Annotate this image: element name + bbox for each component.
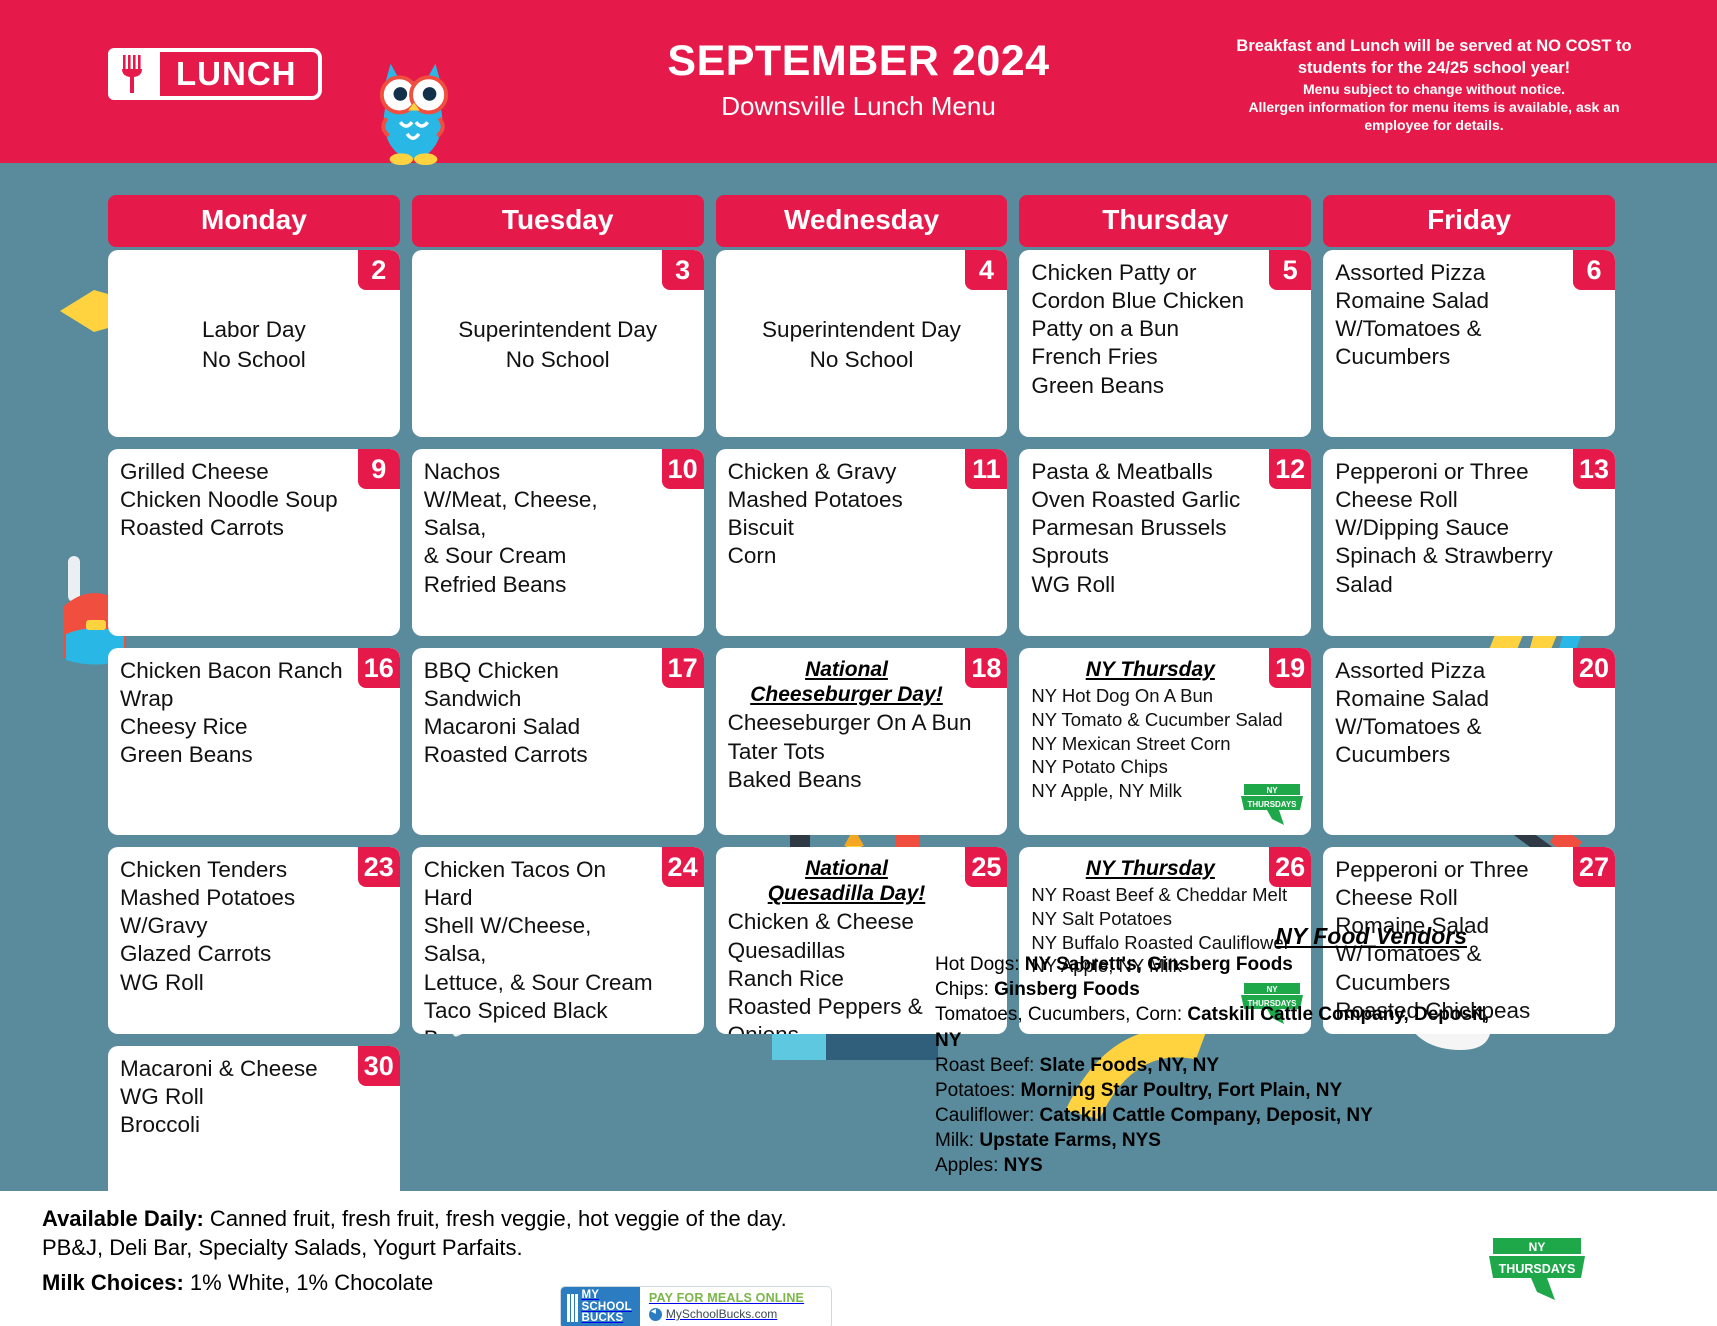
menu-item: Superintendent Day (762, 315, 961, 345)
cell-items: Chicken TendersMashed PotatoesW/GravyGla… (120, 856, 388, 997)
notice-line-1: Breakfast and Lunch will be served at NO… (1189, 36, 1679, 58)
calendar-day-cell[interactable]: 24Chicken Tacos On HardShell W/Cheese, S… (412, 847, 704, 1034)
cell-items: Macaroni & CheeseWG RollBroccoli (120, 1055, 388, 1139)
menu-item: Chicken Patty or (1031, 259, 1265, 287)
vendor-line: Hot Dogs: NY Sabrett's, Ginsberg Foods (935, 952, 1495, 977)
vendor-label: Potatoes: (935, 1080, 1015, 1101)
svg-text:NY: NY (1267, 786, 1279, 795)
menu-item: W/Gravy (120, 912, 354, 940)
cell-items: Superintendent DayNo School (728, 259, 996, 431)
menu-item: Romaine Salad (1335, 685, 1569, 713)
vendor-value: Upstate Farms, NYS (974, 1130, 1161, 1151)
header-notice: Breakfast and Lunch will be served at NO… (1189, 36, 1679, 135)
date-badge: 30 (358, 1046, 400, 1086)
calendar-day-cell[interactable]: 23Chicken TendersMashed PotatoesW/GravyG… (108, 847, 400, 1034)
vendor-line: Potatoes: Morning Star Poultry, Fort Pla… (935, 1078, 1495, 1103)
menu-item: W/Meat, Cheese, Salsa, (424, 486, 658, 542)
cell-items: Pepperoni or ThreeCheese RollW/Dipping S… (1335, 458, 1603, 599)
menu-item: Roasted Carrots (120, 514, 354, 542)
notice-line-2: students for the 24/25 school year! (1189, 58, 1679, 80)
date-badge: 12 (1269, 449, 1311, 489)
menu-item: Cucumbers (1335, 343, 1569, 371)
date-badge: 18 (965, 648, 1007, 688)
vendor-line: Apples: NYS (935, 1153, 1495, 1178)
calendar-day-cell[interactable]: 20Assorted PizzaRomaine SaladW/Tomatoes … (1323, 648, 1615, 835)
menu-item: WG Roll (120, 969, 354, 997)
calendar-day-cell[interactable]: 3Superintendent DayNo School (412, 250, 704, 437)
menu-item: Romaine Salad (1335, 287, 1569, 315)
vendor-line: Milk: Upstate Farms, NYS (935, 1128, 1495, 1153)
menu-item: Green Beans (120, 741, 354, 769)
menu-page: LUNCH SEPTEMBER 2024 Downsville Lunch Me… (0, 0, 1717, 1326)
vendor-label: Cauliflower: (935, 1105, 1034, 1126)
menu-item: Nachos (424, 458, 658, 486)
calendar-day-cell[interactable]: 4Superintendent DayNo School (716, 250, 1008, 437)
myschoolbucks-cta: PAY FOR MEALS ONLINE MySchoolBucks.com (640, 1287, 831, 1326)
cell-items: Labor DayNo School (120, 259, 388, 431)
menu-item: Sprouts (1031, 542, 1265, 570)
menu-item: Cheese Roll (1335, 884, 1569, 912)
date-badge: 13 (1573, 449, 1615, 489)
menu-item: Mashed Potatoes (728, 486, 962, 514)
menu-item: Pepperoni or Three (1335, 458, 1569, 486)
menu-item: NY Potato Chips (1031, 755, 1299, 779)
menu-item: Macaroni & Cheese (120, 1055, 354, 1083)
menu-item: Baked Beans (728, 766, 996, 794)
ny-thursdays-badge-icon: NYTHURSDAYS (1239, 781, 1305, 829)
available-daily-label: Available Daily: (42, 1206, 204, 1231)
svg-text:THURSDAYS: THURSDAYS (1499, 1262, 1576, 1276)
lunch-logo-label: LUNCH (160, 48, 322, 100)
menu-item: Chicken Noodle Soup (120, 486, 354, 514)
date-badge: 11 (965, 449, 1007, 489)
vendor-label: Roast Beef: (935, 1055, 1034, 1076)
menu-item: Lettuce, & Sour Cream (424, 969, 658, 997)
calendar-day-cell[interactable]: 17BBQ Chicken SandwichMacaroni SaladRoas… (412, 648, 704, 835)
date-badge: 9 (358, 449, 400, 489)
myschoolbucks-wordmark: MY SCHOOL BUCKS (582, 1290, 632, 1325)
vendor-value: Catskill Cattle Company, Deposit, NY (1034, 1105, 1373, 1126)
menu-item: Macaroni Salad (424, 713, 658, 741)
date-badge: 19 (1269, 648, 1311, 688)
menu-item: Beans (424, 1025, 658, 1034)
date-badge: 24 (662, 847, 704, 887)
menu-item: & Sour Cream (424, 542, 658, 570)
menu-item: Wrap (120, 685, 354, 713)
cell-banner-line: NY Thursday (1031, 856, 1269, 881)
menu-item: Cheese Roll (1335, 486, 1569, 514)
myschoolbucks-badge[interactable]: MY SCHOOL BUCKS PAY FOR MEALS ONLINE MyS… (560, 1286, 832, 1326)
vendor-value: Slate Foods, NY, NY (1034, 1055, 1219, 1076)
menu-item: NY Tomato & Cucumber Salad (1031, 708, 1299, 732)
ny-food-vendors-block: NY Food Vendors Hot Dogs: NY Sabrett's, … (935, 923, 1495, 1178)
calendar-day-cell[interactable]: 2Labor DayNo School (108, 250, 400, 437)
date-badge: 26 (1269, 847, 1311, 887)
vendor-line: Roast Beef: Slate Foods, NY, NY (935, 1053, 1495, 1078)
calendar-day-cell[interactable]: 12Pasta & MeatballsOven Roasted GarlicPa… (1019, 449, 1311, 636)
menu-item: NY Hot Dog On A Bun (1031, 684, 1299, 708)
vendor-label: Milk: (935, 1130, 974, 1151)
msb-line-3: BUCKS (582, 1313, 632, 1325)
weekday-friday: Friday (1323, 195, 1615, 247)
date-badge: 3 (662, 250, 704, 290)
cell-items: Cheeseburger On A BunTater TotsBaked Bea… (728, 709, 996, 793)
myschoolbucks-url: MySchoolBucks.com (666, 1307, 777, 1321)
menu-item: No School (202, 345, 306, 375)
notice-line-5: employee for details. (1189, 116, 1679, 134)
menu-item: Tater Tots (728, 738, 996, 766)
msb-line-1: MY (582, 1290, 632, 1302)
myschoolbucks-pay-label: PAY FOR MEALS ONLINE (649, 1291, 831, 1305)
cell-items: BBQ Chicken SandwichMacaroni SaladRoaste… (424, 657, 692, 770)
weekday-monday: Monday (108, 195, 400, 247)
menu-item: W/Tomatoes & (1335, 315, 1569, 343)
vendor-value: Morning Star Poultry, Fort Plain, NY (1015, 1080, 1342, 1101)
menu-item: Roasted Carrots (424, 741, 658, 769)
lunch-logo: LUNCH (108, 48, 322, 100)
menu-item: NY Roast Beef & Cheddar Melt (1031, 883, 1299, 907)
ny-thursdays-footer-badge-icon: NY THURSDAYS (1485, 1232, 1589, 1308)
menu-item: W/Dipping Sauce (1335, 514, 1569, 542)
menu-item: Labor Day (202, 315, 306, 345)
menu-item: WG Roll (1031, 571, 1265, 599)
menu-item: Spinach & Strawberry (1335, 542, 1569, 570)
vendor-line: Chips: Ginsberg Foods (935, 977, 1495, 1002)
date-badge: 17 (662, 648, 704, 688)
vendor-label: Tomatoes, Cucumbers, Corn: (935, 1004, 1182, 1025)
weekday-tuesday: Tuesday (412, 195, 704, 247)
vendors-list: Hot Dogs: NY Sabrett's, Ginsberg FoodsCh… (935, 952, 1495, 1178)
menu-item: Chicken & Gravy (728, 458, 962, 486)
available-daily-block: Available Daily: Canned fruit, fresh fru… (42, 1205, 832, 1298)
menu-item: Cheeseburger On A Bun (728, 709, 996, 737)
weekday-wednesday: Wednesday (716, 195, 1008, 247)
cell-items: Assorted PizzaRomaine SaladW/Tomatoes &C… (1335, 657, 1603, 770)
menu-item: Biscuit (728, 514, 962, 542)
calendar-day-cell[interactable]: 10NachosW/Meat, Cheese, Salsa,& Sour Cre… (412, 449, 704, 636)
menu-item: Pepperoni or Three (1335, 856, 1569, 884)
menu-item: Oven Roasted Garlic (1031, 486, 1265, 514)
weekday-header-row: Monday Tuesday Wednesday Thursday Friday (108, 195, 1615, 247)
menu-item: Patty on a Bun (1031, 315, 1265, 343)
menu-item: Broccoli (120, 1111, 354, 1139)
cell-banner-line: Cheeseburger Day! (728, 682, 966, 707)
menu-item: Assorted Pizza (1335, 259, 1569, 287)
menu-item: Cucumbers (1335, 741, 1569, 769)
cell-banner-line: National (728, 856, 966, 881)
cell-banner: NationalCheeseburger Day! (728, 657, 996, 707)
menu-item: Corn (728, 542, 962, 570)
vendor-value: NY Sabrett's, Ginsberg Foods (1019, 954, 1292, 975)
menu-item: Chicken Tenders (120, 856, 354, 884)
vendor-label: Chips: (935, 979, 989, 1000)
myschoolbucks-dot-icon (649, 1308, 662, 1321)
date-badge: 16 (358, 648, 400, 688)
menu-item: Cheesy Rice (120, 713, 354, 741)
menu-item: Assorted Pizza (1335, 657, 1569, 685)
cell-banner: NationalQuesadilla Day! (728, 856, 996, 906)
available-daily-line: Available Daily: Canned fruit, fresh fru… (42, 1205, 832, 1262)
menu-item: Grilled Cheese (120, 458, 354, 486)
cell-items: Chicken Patty orCordon Blue ChickenPatty… (1031, 259, 1299, 400)
cell-banner-line: Quesadilla Day! (728, 881, 966, 906)
date-badge: 10 (662, 449, 704, 489)
date-badge: 2 (358, 250, 400, 290)
menu-item: No School (762, 345, 961, 375)
menu-item: French Fries (1031, 343, 1265, 371)
myschoolbucks-logo: MY SCHOOL BUCKS (561, 1287, 640, 1326)
cell-banner-line: National (728, 657, 966, 682)
vendor-label: Hot Dogs: (935, 954, 1019, 975)
menu-item: Superintendent Day (458, 315, 657, 345)
cell-banner: NY Thursday (1031, 657, 1299, 682)
cell-items: Pasta & MeatballsOven Roasted GarlicParm… (1031, 458, 1299, 599)
myschoolbucks-bars-icon (567, 1294, 578, 1322)
cell-items: Chicken Bacon RanchWrapCheesy RiceGreen … (120, 657, 388, 770)
vendor-value: NYS (998, 1155, 1042, 1176)
menu-item: NY Mexican Street Corn (1031, 732, 1299, 756)
menu-item: BBQ Chicken Sandwich (424, 657, 658, 713)
vendor-line: Tomatoes, Cucumbers, Corn: Catskill Catt… (935, 1002, 1495, 1052)
milk-choices-label: Milk Choices: (42, 1270, 184, 1295)
date-badge: 25 (965, 847, 1007, 887)
page-header: LUNCH SEPTEMBER 2024 Downsville Lunch Me… (0, 0, 1717, 163)
date-badge: 6 (1573, 250, 1615, 290)
date-badge: 4 (965, 250, 1007, 290)
calendar-day-cell[interactable]: 13Pepperoni or ThreeCheese RollW/Dipping… (1323, 449, 1615, 636)
date-badge: 20 (1573, 648, 1615, 688)
calendar-day-cell[interactable]: 11Chicken & GravyMashed PotatoesBiscuitC… (716, 449, 1008, 636)
menu-item: Taco Spiced Black (424, 997, 658, 1025)
menu-item: Refried Beans (424, 571, 658, 599)
page-footer: Available Daily: Canned fruit, fresh fru… (0, 1191, 1717, 1326)
cell-banner: NY Thursday (1031, 856, 1299, 881)
fork-icon (108, 48, 160, 100)
weekday-thursday: Thursday (1019, 195, 1311, 247)
menu-item: Glazed Carrots (120, 940, 354, 968)
vendors-title: NY Food Vendors (935, 923, 1495, 950)
cell-items: NachosW/Meat, Cheese, Salsa,& Sour Cream… (424, 458, 692, 599)
vendor-value: Ginsberg Foods (989, 979, 1140, 1000)
calendar-day-cell[interactable]: 6Assorted PizzaRomaine SaladW/Tomatoes &… (1323, 250, 1615, 437)
milk-choices-text: 1% White, 1% Chocolate (184, 1270, 433, 1295)
notice-line-4: Allergen information for menu items is a… (1189, 98, 1679, 116)
cell-items: Superintendent DayNo School (424, 259, 692, 431)
notice-line-3: Menu subject to change without notice. (1189, 80, 1679, 98)
calendar-day-cell[interactable]: 18NationalCheeseburger Day!Cheeseburger … (716, 648, 1008, 835)
cell-items: Chicken & GravyMashed PotatoesBiscuitCor… (728, 458, 996, 571)
vendor-label: Apples: (935, 1155, 998, 1176)
menu-item: W/Tomatoes & (1335, 713, 1569, 741)
menu-item: Parmesan Brussels (1031, 514, 1265, 542)
calendar-day-cell[interactable]: 5Chicken Patty orCordon Blue ChickenPatt… (1019, 250, 1311, 437)
cell-items: Assorted PizzaRomaine SaladW/Tomatoes &C… (1335, 259, 1603, 372)
calendar-day-cell[interactable]: 19NY ThursdayNY Hot Dog On A BunNY Tomat… (1019, 648, 1311, 835)
date-badge: 5 (1269, 250, 1311, 290)
menu-item: Pasta & Meatballs (1031, 458, 1265, 486)
date-badge: 23 (358, 847, 400, 887)
cell-banner-line: NY Thursday (1031, 657, 1269, 682)
menu-item: Chicken Tacos On Hard (424, 856, 658, 912)
vendor-line: Cauliflower: Catskill Cattle Company, De… (935, 1103, 1495, 1128)
calendar-day-cell[interactable]: 16Chicken Bacon RanchWrapCheesy RiceGree… (108, 648, 400, 835)
cell-items: Chicken Tacos On HardShell W/Cheese, Sal… (424, 856, 692, 1034)
menu-item: Green Beans (1031, 372, 1265, 400)
menu-item: No School (458, 345, 657, 375)
menu-item: Shell W/Cheese, Salsa, (424, 912, 658, 968)
svg-text:THURSDAYS: THURSDAYS (1248, 800, 1298, 809)
cell-items: Grilled CheeseChicken Noodle SoupRoasted… (120, 458, 388, 542)
svg-text:NY: NY (1529, 1240, 1546, 1254)
menu-item: Chicken Bacon Ranch (120, 657, 354, 685)
menu-item: Salad (1335, 571, 1569, 599)
date-badge: 27 (1573, 847, 1615, 887)
myschoolbucks-url-row: MySchoolBucks.com (649, 1307, 831, 1321)
menu-item: WG Roll (120, 1083, 354, 1111)
owl-mascot-icon (370, 52, 456, 167)
calendar-day-cell[interactable]: 9Grilled CheeseChicken Noodle SoupRoaste… (108, 449, 400, 636)
menu-item: Cordon Blue Chicken (1031, 287, 1265, 315)
menu-item: Mashed Potatoes (120, 884, 354, 912)
